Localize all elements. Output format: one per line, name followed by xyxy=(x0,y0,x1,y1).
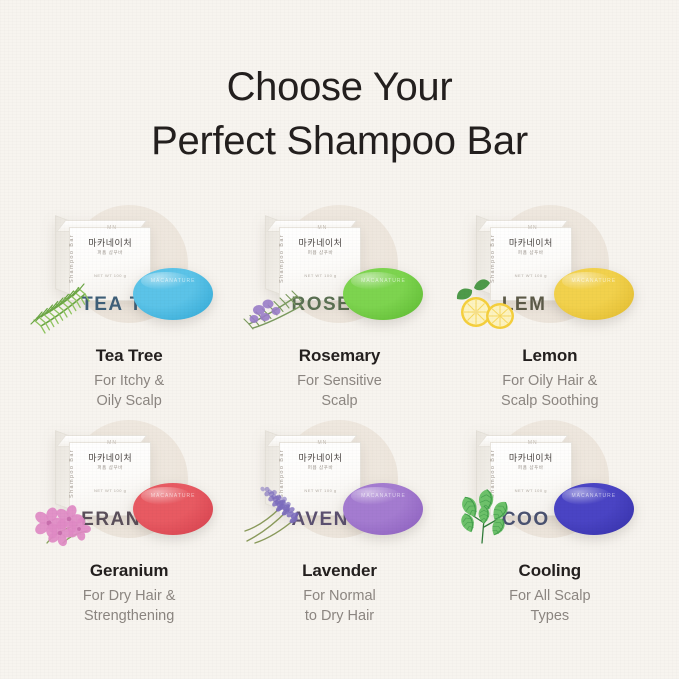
carton-logo-mark: MN xyxy=(317,440,327,446)
carton-brand-sub-korean: 퍼퓸 샴푸바 xyxy=(492,250,570,256)
product-name: Geranium xyxy=(90,561,169,581)
carton-brand-korean: 마카네이처 xyxy=(71,453,149,463)
carton-brand-sub-korean: 퍼퓸 샴푸바 xyxy=(492,465,570,471)
product-description: For All Scalp Types xyxy=(509,586,590,626)
carton-brand-sub-korean: 퍼퓸 샴푸바 xyxy=(71,465,149,471)
product-scene: MN 마카네이처 퍼퓸 샴푸바 NET WT 100 g Shampoo Bar… xyxy=(29,203,229,336)
carton-brand-korean: 마카네이처 xyxy=(71,238,149,248)
product-scene: MN 마카네이처 퍼퓸 샴푸바 NET WT 100 g Shampoo Bar… xyxy=(239,418,439,551)
rosemary-sprig-icon xyxy=(33,274,103,330)
soap-bar: MACANATURE xyxy=(554,483,634,535)
product-card-lemon[interactable]: MN 마카네이처 퍼퓸 샴푸바 NET WT 100 g Shampoo Bar… xyxy=(445,203,655,418)
soap-bar: MACANATURE xyxy=(133,483,213,535)
product-card-rosemary[interactable]: MN 마카네이처 퍼퓸 샴푸바 NET WT 100 g Shampoo Bar… xyxy=(234,203,444,418)
page-title-line-1: Choose Your xyxy=(0,60,679,114)
carton-brand-sub-korean: 퍼퓸 샴푸바 xyxy=(71,250,149,256)
soap-emboss-text: MACANATURE xyxy=(133,493,213,499)
product-card-geranium[interactable]: MN 마카네이처 퍼퓸 샴푸바 NET WT 100 g Shampoo Bar… xyxy=(24,418,234,633)
page-title: Choose Your Perfect Shampoo Bar xyxy=(0,60,679,168)
carton-brand-korean: 마카네이처 xyxy=(492,238,570,248)
soap-emboss-text: MACANATURE xyxy=(554,278,634,284)
product-grid: MN 마카네이처 퍼퓸 샴푸바 NET WT 100 g Shampoo Bar… xyxy=(24,203,655,633)
page-title-line-2: Perfect Shampoo Bar xyxy=(0,114,679,168)
geranium-flower-icon xyxy=(33,489,103,545)
soap-emboss-text: MACANATURE xyxy=(343,278,423,284)
lavender-sprig-icon xyxy=(243,489,313,545)
carton-brand-korean: 마카네이처 xyxy=(281,238,359,248)
product-name: Lavender xyxy=(302,561,377,581)
product-scene: MN 마카네이처 퍼퓸 샴푸바 NET WT 100 g Shampoo Bar… xyxy=(239,203,439,336)
carton-brand-korean: 마카네이처 xyxy=(281,453,359,463)
product-name: Rosemary xyxy=(299,346,380,366)
product-description: For Normal to Dry Hair xyxy=(303,586,376,626)
product-description: For Oily Hair & Scalp Soothing xyxy=(501,371,599,411)
product-name: Cooling xyxy=(519,561,582,581)
soap-emboss-text: MACANATURE xyxy=(133,278,213,284)
soap-bar: MACANATURE xyxy=(343,268,423,320)
rosemary-flower-icon xyxy=(243,274,313,330)
product-description: For Sensitive Scalp xyxy=(297,371,382,411)
carton-logo-mark: MN xyxy=(528,440,538,446)
carton-brand-korean: 마카네이처 xyxy=(492,453,570,463)
product-scene: MN 마카네이처 퍼퓸 샴푸바 NET WT 100 g Shampoo Bar… xyxy=(450,203,650,336)
product-name: Tea Tree xyxy=(96,346,163,366)
product-description: For Itchy & Oily Scalp xyxy=(94,371,164,411)
soap-bar: MACANATURE xyxy=(133,268,213,320)
carton-logo-mark: MN xyxy=(528,225,538,231)
product-card-lavender[interactable]: MN 마카네이처 퍼퓸 샴푸바 NET WT 100 g Shampoo Bar… xyxy=(234,418,444,633)
soap-emboss-text: MACANATURE xyxy=(554,493,634,499)
carton-logo-mark: MN xyxy=(107,440,117,446)
carton-brand-sub-korean: 퍼퓸 샴푸바 xyxy=(281,465,359,471)
soap-bar: MACANATURE xyxy=(343,483,423,535)
infographic-page: Choose Your Perfect Shampoo Bar MN 마카네이처… xyxy=(0,0,679,679)
product-description: For Dry Hair & Strengthening xyxy=(83,586,176,626)
carton-logo-mark: MN xyxy=(317,225,327,231)
soap-emboss-text: MACANATURE xyxy=(343,493,423,499)
carton-logo-mark: MN xyxy=(107,225,117,231)
product-name: Lemon xyxy=(522,346,577,366)
product-scene: MN 마카네이처 퍼퓸 샴푸바 NET WT 100 g Shampoo Bar… xyxy=(450,418,650,551)
product-scene: MN 마카네이처 퍼퓸 샴푸바 NET WT 100 g Shampoo Bar… xyxy=(29,418,229,551)
lemon-slice-icon xyxy=(454,274,524,330)
mint-leaf-icon xyxy=(454,489,524,545)
carton-brand-sub-korean: 퍼퓸 샴푸바 xyxy=(281,250,359,256)
product-card-cooling[interactable]: MN 마카네이처 퍼퓸 샴푸바 NET WT 100 g Shampoo Bar… xyxy=(445,418,655,633)
soap-bar: MACANATURE xyxy=(554,268,634,320)
product-card-tea-tree[interactable]: MN 마카네이처 퍼퓸 샴푸바 NET WT 100 g Shampoo Bar… xyxy=(24,203,234,418)
